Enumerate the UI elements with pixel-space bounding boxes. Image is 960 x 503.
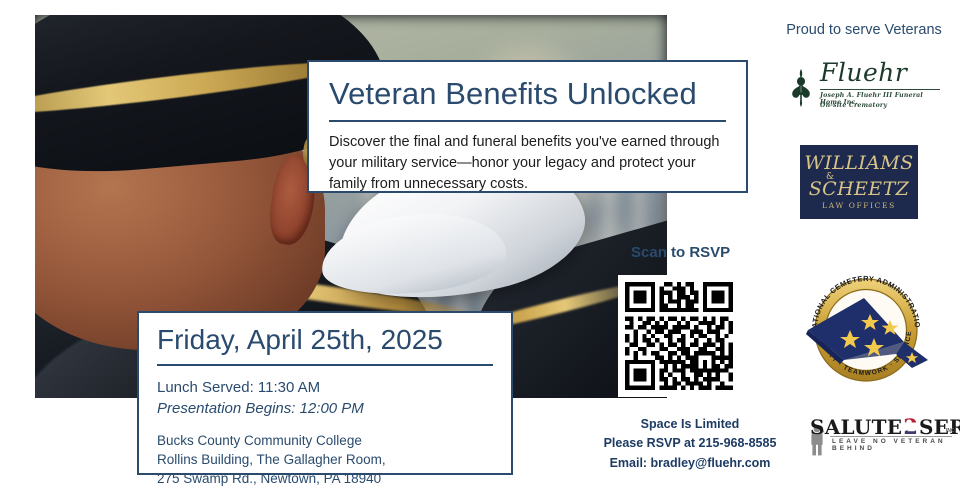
venue-name: Bucks County Community College — [157, 431, 493, 450]
presentation-time: Presentation Begins: 12:00 PM — [157, 398, 493, 419]
williams-scheetz-logo[interactable]: WILLIAMS & SCHEETZ LAW OFFICES — [800, 145, 918, 219]
date-divider — [157, 364, 493, 366]
title-divider — [329, 120, 726, 122]
venue-address: Bucks County Community College Rollins B… — [157, 431, 493, 488]
ws-line-3: LAW OFFICES — [822, 201, 896, 210]
fluehr-wordmark: Fluehr — [820, 58, 907, 87]
fluehr-divider — [820, 89, 940, 90]
flyer-canvas: Veteran Benefits Unlocked Discover the f… — [0, 0, 960, 503]
venue-street: 275 Swamp Rd., Newtown, PA 18940 — [157, 469, 493, 488]
lunch-time: Lunch Served: 11:30 AM — [157, 377, 493, 398]
proud-to-serve-text: Proud to serve Veterans — [772, 22, 956, 38]
ws-line-1: WILLIAMS — [804, 154, 913, 172]
title-card: Veteran Benefits Unlocked Discover the f… — [307, 60, 748, 193]
rsvp-line-2: Please RSVP at 215-968-8585 — [600, 434, 780, 453]
event-details-card: Friday, April 25th, 2025 Lunch Served: 1… — [137, 311, 513, 475]
s2s-tagline-divider — [830, 436, 952, 437]
ws-line-2: SCHEETZ — [809, 180, 910, 198]
rsvp-line-1: Space Is Limited — [600, 415, 780, 434]
fluehr-logo[interactable]: Fluehr Joseph A. Fluehr III Funeral Home… — [786, 56, 946, 118]
s2s-tagline: LEAVE NO VETERAN BEHIND — [832, 438, 954, 452]
salute-2-service-logo[interactable]: SALUTE 2 SERVICE INC. LEAVE NO VETERAN B… — [786, 412, 954, 458]
rsvp-line-3: Email: bradley@fluehr.com — [600, 454, 780, 473]
nca-seal-logo[interactable]: NATIONAL CEMETERY ADMINISTRATION QUALITY… — [800, 268, 932, 388]
qr-code-image[interactable] — [625, 282, 733, 390]
scan-to-rsvp-label: Scan to RSVP — [631, 244, 730, 261]
event-date: Friday, April 25th, 2025 — [157, 326, 493, 354]
s2s-inc-mark: INC. — [946, 428, 956, 434]
fleur-de-lis-icon — [788, 68, 814, 108]
page-subtitle: Discover the final and funeral benefits … — [329, 132, 726, 195]
venue-room: Rollins Building, The Gallagher Room, — [157, 450, 493, 469]
rsvp-info: Space Is Limited Please RSVP at 215-968-… — [600, 415, 780, 473]
page-title: Veteran Benefits Unlocked — [329, 78, 726, 111]
fluehr-subtitle-2: On-site Crematory — [820, 102, 887, 109]
qr-code-card[interactable] — [618, 275, 740, 397]
